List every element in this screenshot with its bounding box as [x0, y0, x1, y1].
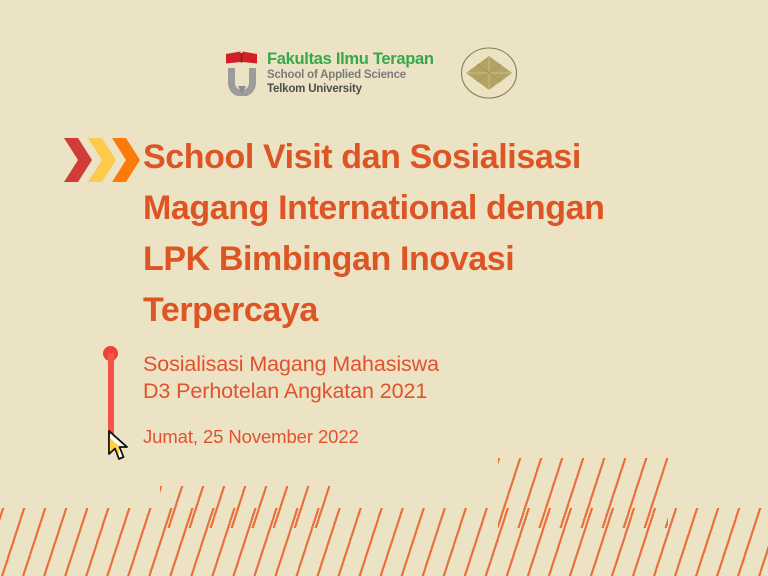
page-title: School Visit dan Sosialisasi Magang Inte… — [143, 132, 723, 336]
event-date: Jumat, 25 November 2022 — [143, 425, 359, 449]
cursor-arrow-icon — [106, 430, 132, 462]
chevron-yellow-icon — [88, 138, 116, 182]
faculty-logo-line-1: Fakultas Ilmu Terapan — [267, 51, 434, 68]
header-logo-row: Fakultas Ilmu Terapan School of Applied … — [225, 44, 518, 102]
subtitle: Sosialisasi Magang Mahasiswa D3 Perhotel… — [143, 351, 563, 405]
faculty-logo: Fakultas Ilmu Terapan School of Applied … — [225, 50, 434, 96]
title-line-4: Terpercaya — [143, 285, 723, 336]
faculty-logo-text: Fakultas Ilmu Terapan School of Applied … — [267, 50, 434, 96]
partner-emblem — [460, 44, 518, 102]
stripe-band-step-2 — [498, 458, 668, 528]
chevron-group — [62, 136, 142, 184]
telkom-u-icon — [228, 68, 256, 96]
triple-chevron-icon — [62, 136, 142, 184]
stripe-band-base — [0, 508, 768, 576]
telkom-logo-mark — [225, 50, 259, 96]
faculty-logo-line-2: School of Applied Science — [267, 68, 434, 82]
title-line-3: LPK Bimbingan Inovasi — [143, 234, 723, 285]
subtitle-line-1: Sosialisasi Magang Mahasiswa — [143, 351, 563, 378]
open-book-and-u-icon — [225, 50, 259, 96]
stripe-band-step-1 — [160, 486, 330, 528]
chevron-orange-icon — [112, 138, 140, 182]
faculty-logo-line-3: Telkom University — [267, 82, 434, 96]
subtitle-line-2: D3 Perhotelan Angkatan 2021 — [143, 378, 563, 405]
open-book-icon — [226, 52, 257, 64]
pin-stem — [108, 353, 114, 441]
title-line-2: Magang International dengan — [143, 183, 723, 234]
chevron-red-icon — [64, 138, 92, 182]
diamond-emblem-icon — [460, 44, 518, 102]
title-line-1: School Visit dan Sosialisasi — [143, 132, 723, 183]
presentation-slide: Fakultas Ilmu Terapan School of Applied … — [0, 0, 768, 576]
mouse-pointer-icon — [106, 430, 132, 462]
